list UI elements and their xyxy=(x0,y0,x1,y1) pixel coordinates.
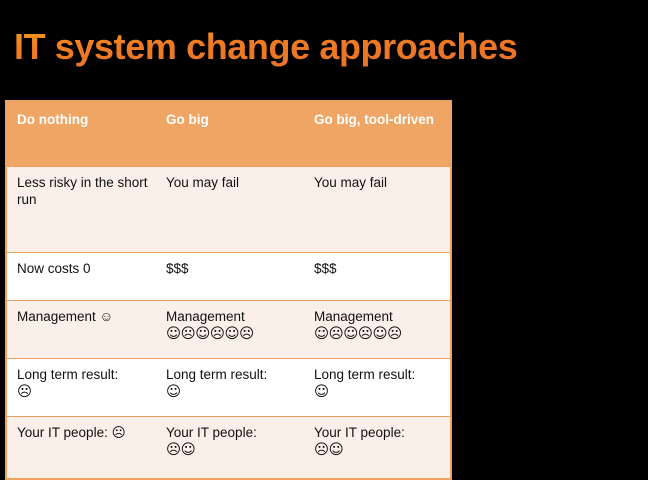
face-glyphs: ☹☺ xyxy=(166,442,195,459)
table-header: Do nothing Go big Go big, tool-driven xyxy=(6,101,451,167)
cell-risk-go-big-tool-driven: You may fail xyxy=(304,167,451,253)
face-glyphs: ☺☹☺☹☺☹ xyxy=(166,326,254,343)
cell-cost-go-big: $$$ xyxy=(156,253,304,301)
cell-text: Now costs 0 xyxy=(17,260,148,277)
column-header-do-nothing: Do nothing xyxy=(6,101,156,167)
cell-text: $$$ xyxy=(166,260,296,277)
table-header-row: Do nothing Go big Go big, tool-driven xyxy=(6,101,451,167)
table-row-risk: Less risky in the short run You may fail… xyxy=(6,167,451,253)
cell-cost-do-nothing: Now costs 0 xyxy=(6,253,156,301)
cell-long-term-do-nothing: Long term result: ☹ xyxy=(6,359,156,417)
slide-canvas: IT system change approaches Do nothing G… xyxy=(0,0,648,448)
comparison-table: Do nothing Go big Go big, tool-driven Le… xyxy=(5,100,452,480)
cell-text: Long term result: xyxy=(17,366,148,383)
column-header-go-big: Go big xyxy=(156,101,304,167)
table-body: Less risky in the short run You may fail… xyxy=(6,167,451,480)
table-row-cost: Now costs 0 $$$ $$$ xyxy=(6,253,451,301)
cell-risk-go-big: You may fail xyxy=(156,167,304,253)
cell-text: Less risky in the short run xyxy=(17,174,148,208)
cell-risk-do-nothing: Less risky in the short run xyxy=(6,167,156,253)
page-title: IT system change approaches xyxy=(14,25,517,69)
cell-management-go-big: Management ☺☹☺☹☺☹ xyxy=(156,301,304,359)
face-glyphs: ☺☹☺☹☺☹ xyxy=(314,326,402,343)
column-header-go-big-tool-driven: Go big, tool-driven xyxy=(304,101,451,167)
cell-text: Management xyxy=(314,308,442,325)
cell-cost-go-big-tool-driven: $$$ xyxy=(304,253,451,301)
table-row-management: Management ☺ Management ☺☹☺☹☺☹ Managemen… xyxy=(6,301,451,359)
cell-management-go-big-tool-driven: Management ☺☹☺☹☺☹ xyxy=(304,301,451,359)
cell-long-term-go-big: Long term result: ☺ xyxy=(156,359,304,417)
table-row-long-term-result: Long term result: ☹ Long term result: ☺ … xyxy=(6,359,451,417)
cell-text: Long term result: xyxy=(166,366,296,383)
face-glyphs: ☹☺ xyxy=(314,442,343,459)
cell-text: Long term result: xyxy=(314,366,442,383)
face-glyphs: ☹ xyxy=(17,384,32,401)
cell-text: Your IT people: xyxy=(314,424,442,441)
cell-text: Your IT people: ☹ xyxy=(17,424,148,441)
cell-management-do-nothing: Management ☺ xyxy=(6,301,156,359)
cell-text: Management ☺ xyxy=(17,308,148,325)
face-glyphs: ☺ xyxy=(314,384,329,401)
cell-text: You may fail xyxy=(314,174,442,191)
cell-text: You may fail xyxy=(166,174,296,191)
cell-text: Your IT people: xyxy=(166,424,296,441)
cell-text: Management xyxy=(166,308,296,325)
cell-long-term-go-big-tool-driven: Long term result: ☺ xyxy=(304,359,451,417)
face-glyphs: ☺ xyxy=(166,384,181,401)
cell-text: $$$ xyxy=(314,260,442,277)
